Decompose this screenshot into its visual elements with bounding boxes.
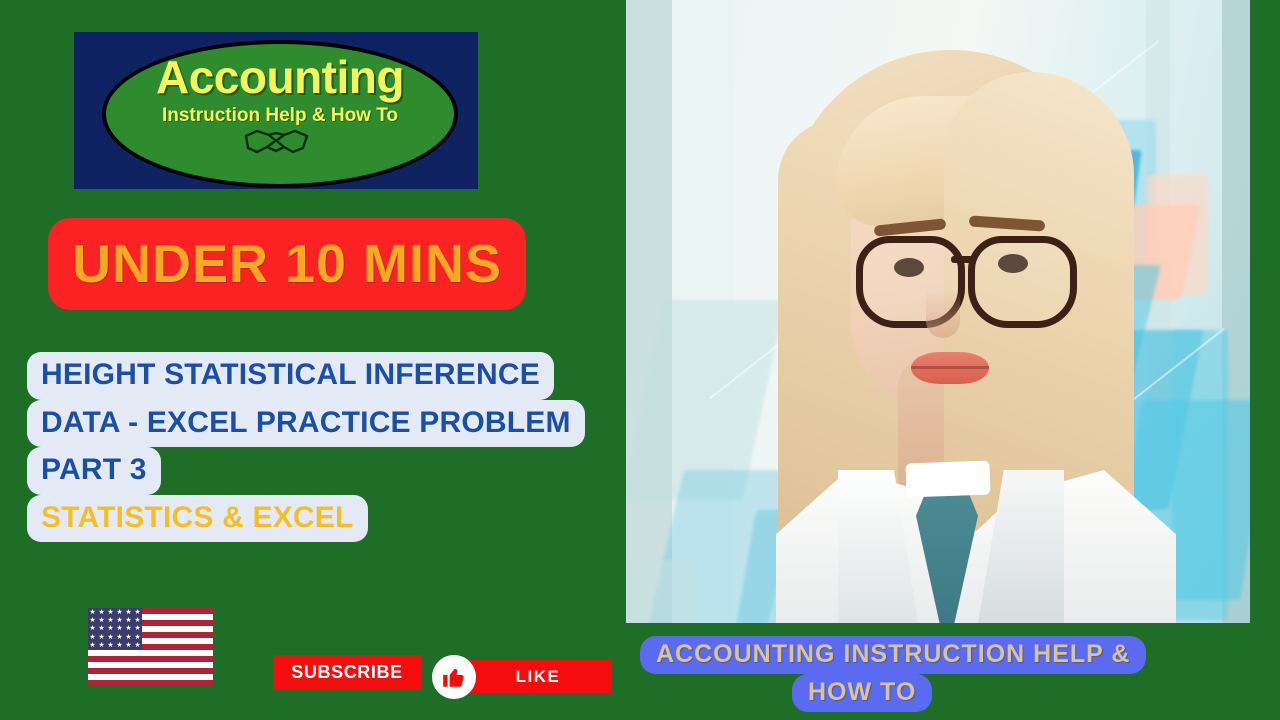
under-10-mins-badge: UNDER 10 MINS bbox=[48, 218, 526, 310]
like-label: LIKE bbox=[516, 667, 561, 687]
flag-canton: ★★★★★★ ★★★★★★ ★★★★★★ ★★★★★★ ★★★★★★ bbox=[88, 608, 142, 650]
title-line-1: HEIGHT STATISTICAL INFERENCE bbox=[27, 352, 554, 400]
subscribe-label: SUBSCRIBE bbox=[291, 662, 402, 683]
title-line-2: DATA - EXCEL PRACTICE PROBLEM bbox=[27, 400, 585, 448]
thumbs-up-icon[interactable] bbox=[432, 655, 476, 699]
photo-brushstroke bbox=[626, 560, 696, 623]
portrait-lip-line bbox=[911, 366, 989, 369]
eyeglass-lens bbox=[968, 236, 1077, 328]
like-button[interactable]: LIKE bbox=[432, 655, 612, 697]
eyeglasses-icon bbox=[856, 236, 1071, 318]
title-block: HEIGHT STATISTICAL INFERENCE DATA - EXCE… bbox=[27, 352, 585, 542]
channel-logo: Accounting Instruction Help & How To bbox=[70, 28, 482, 193]
thumbnail-canvas: Accounting Instruction Help & How To UND… bbox=[0, 0, 1280, 720]
channel-line-2: HOW TO bbox=[792, 674, 932, 712]
handshake-icon bbox=[243, 127, 317, 166]
channel-line-1: ACCOUNTING INSTRUCTION HELP & bbox=[640, 636, 1146, 674]
portrait-collar bbox=[905, 461, 990, 498]
banner-label: UNDER 10 MINS bbox=[72, 233, 502, 295]
title-line-3: PART 3 bbox=[27, 447, 161, 495]
portrait-nose bbox=[926, 290, 960, 338]
subscribe-button[interactable]: SUBSCRIBE bbox=[273, 655, 421, 690]
title-subtitle: STATISTICS & EXCEL bbox=[27, 495, 368, 543]
like-bar[interactable]: LIKE bbox=[464, 660, 612, 693]
logo-title: Accounting bbox=[156, 54, 404, 100]
hero-photo bbox=[626, 0, 1250, 623]
channel-name-banner: ACCOUNTING INSTRUCTION HELP & HOW TO bbox=[640, 636, 1240, 712]
logo-ellipse: Accounting Instruction Help & How To bbox=[102, 40, 458, 188]
logo-subtitle: Instruction Help & How To bbox=[162, 106, 398, 125]
us-flag-icon: ★★★★★★ ★★★★★★ ★★★★★★ ★★★★★★ ★★★★★★ bbox=[88, 608, 213, 686]
